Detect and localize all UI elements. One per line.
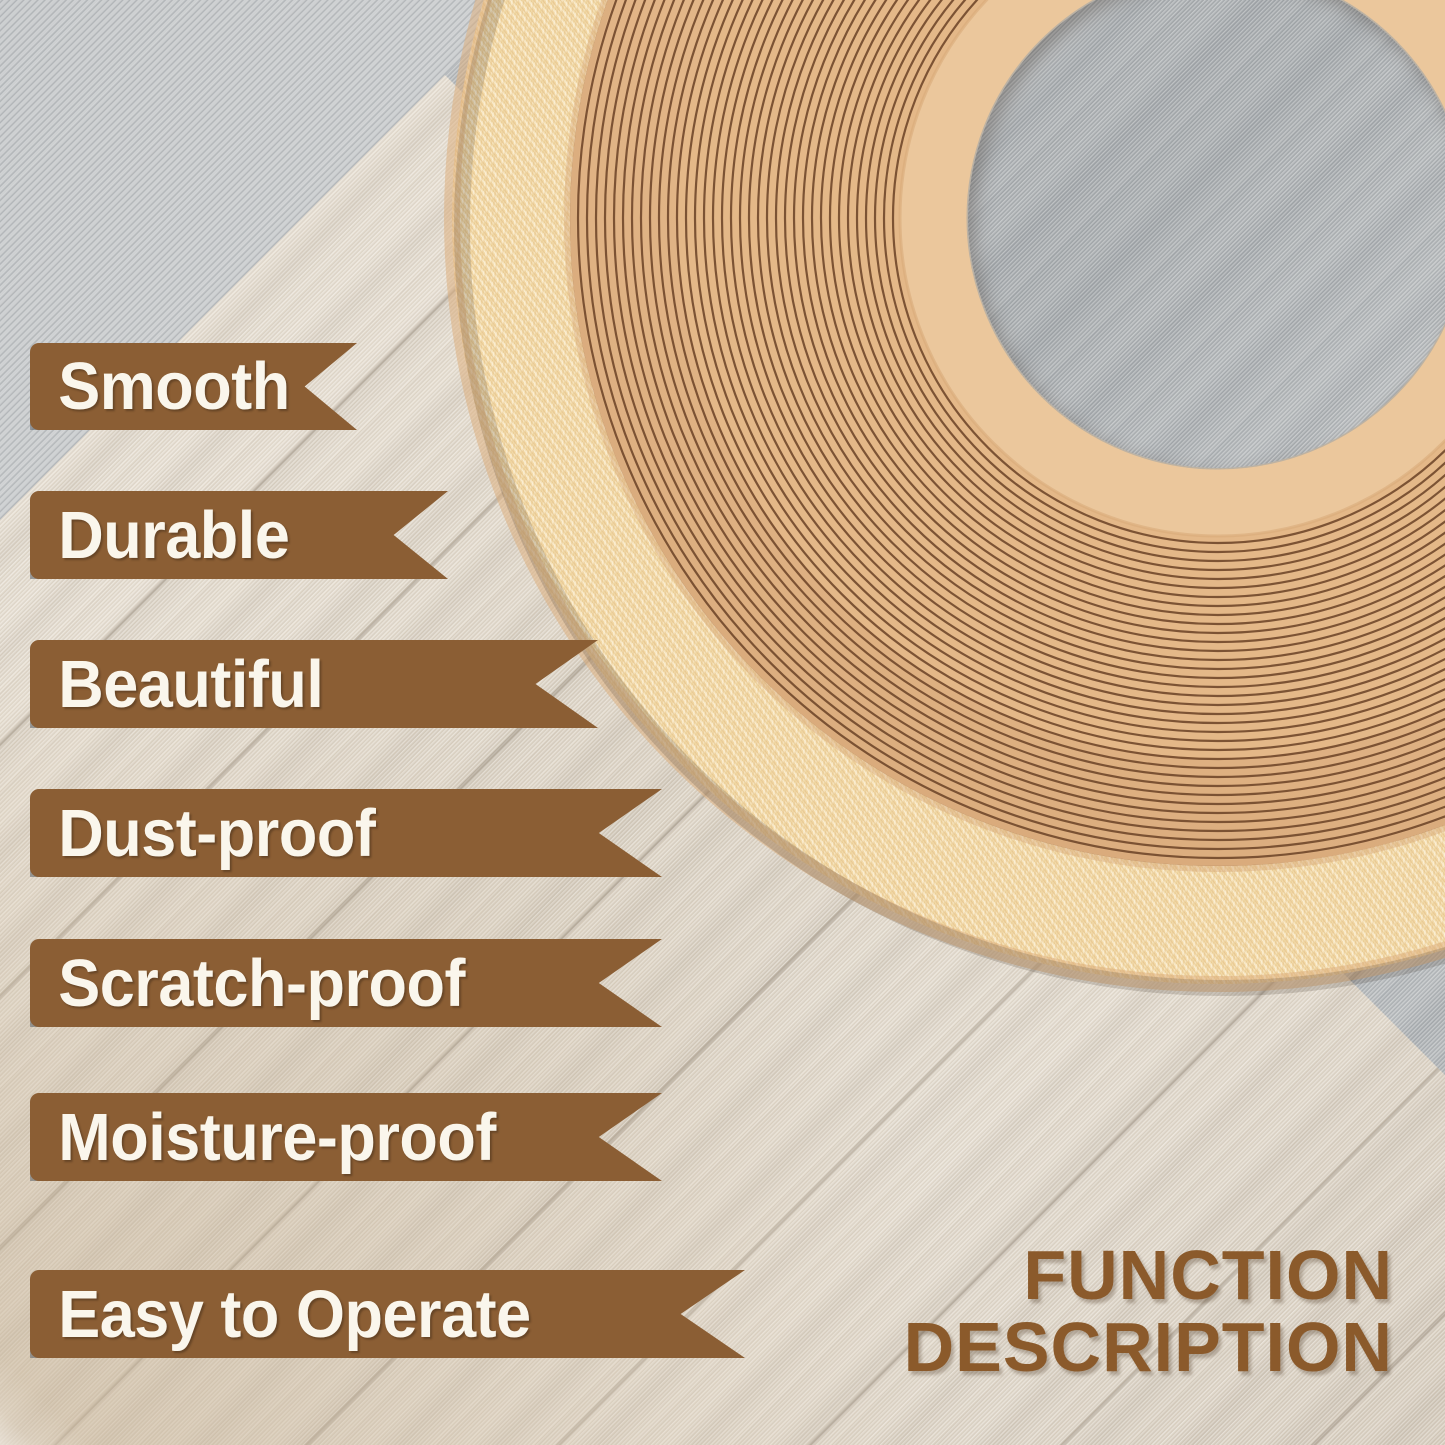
heading-line-2: DESCRIPTION: [904, 1312, 1393, 1383]
feature-banner-scratch-proof[interactable]: Scratch-proof: [30, 939, 662, 1027]
feature-label: Smooth: [30, 353, 290, 420]
infographic-canvas: Smooth Durable Beautiful Dust-proof Scra…: [0, 0, 1445, 1445]
function-description-heading: FUNCTION DESCRIPTION: [904, 1240, 1393, 1383]
feature-banner-beautiful[interactable]: Beautiful: [30, 640, 598, 728]
heading-line-1: FUNCTION: [904, 1240, 1393, 1311]
feature-banner-moisture-proof[interactable]: Moisture-proof: [30, 1093, 662, 1181]
feature-banner-easy-to-operate[interactable]: Easy to Operate: [30, 1270, 745, 1358]
feature-label: Easy to Operate: [30, 1281, 531, 1348]
feature-banner-dust-proof[interactable]: Dust-proof: [30, 789, 662, 877]
feature-label: Scratch-proof: [30, 950, 465, 1017]
feature-label: Durable: [30, 502, 289, 569]
feature-label: Moisture-proof: [30, 1104, 496, 1171]
feature-banner-durable[interactable]: Durable: [30, 491, 448, 579]
feature-banner-list: Smooth Durable Beautiful Dust-proof Scra…: [0, 0, 1445, 1445]
feature-label: Dust-proof: [30, 800, 375, 867]
feature-banner-smooth[interactable]: Smooth: [30, 343, 357, 430]
feature-label: Beautiful: [30, 651, 323, 718]
